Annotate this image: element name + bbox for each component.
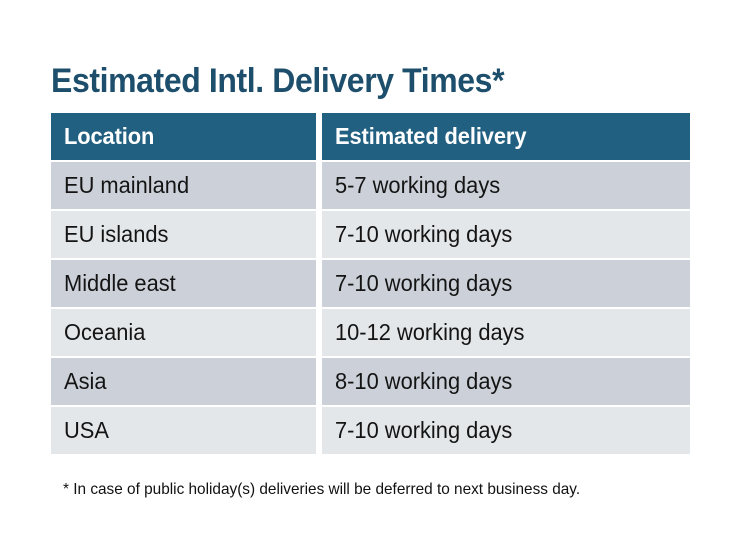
table-row: USA 7-10 working days [51,407,690,454]
table-row: Middle east 7-10 working days [51,260,690,307]
footnote: * In case of public holiday(s) deliverie… [63,479,697,501]
cell-delivery-text: 5-7 working days [335,172,500,199]
cell-location: EU mainland [51,162,316,209]
cell-delivery: 7-10 working days [322,260,690,307]
table-row: Asia 8-10 working days [51,358,690,405]
cell-location: Asia [51,358,316,405]
cell-location-text: EU islands [64,221,168,248]
table-row: EU mainland 5-7 working days [51,162,690,209]
cell-location: USA [51,407,316,454]
column-header-location-label: Location [64,123,154,150]
cell-location: Oceania [51,309,316,356]
cell-location-text: EU mainland [64,172,189,199]
cell-location-text: Oceania [64,319,145,346]
cell-location-text: Asia [64,368,107,395]
cell-delivery: 7-10 working days [322,407,690,454]
cell-delivery: 8-10 working days [322,358,690,405]
cell-delivery: 10-12 working days [322,309,690,356]
cell-location-text: USA [64,417,109,444]
table-header-row: Location Estimated delivery [51,113,690,160]
delivery-times-table: Location Estimated delivery EU mainland … [51,113,690,454]
cell-delivery: 7-10 working days [322,211,690,258]
cell-location: Middle east [51,260,316,307]
cell-delivery-text: 7-10 working days [335,270,512,297]
cell-location: EU islands [51,211,316,258]
cell-delivery: 5-7 working days [322,162,690,209]
cell-location-text: Middle east [64,270,176,297]
column-header-location: Location [51,113,316,160]
table-row: EU islands 7-10 working days [51,211,690,258]
cell-delivery-text: 10-12 working days [335,319,524,346]
cell-delivery-text: 7-10 working days [335,417,512,444]
column-header-estimated-delivery-label: Estimated delivery [335,123,526,150]
page-title: Estimated Intl. Delivery Times* [51,59,671,103]
table-row: Oceania 10-12 working days [51,309,690,356]
cell-delivery-text: 7-10 working days [335,221,512,248]
cell-delivery-text: 8-10 working days [335,368,512,395]
delivery-times-page: Estimated Intl. Delivery Times* Location… [0,0,745,536]
column-header-estimated-delivery: Estimated delivery [322,113,690,160]
